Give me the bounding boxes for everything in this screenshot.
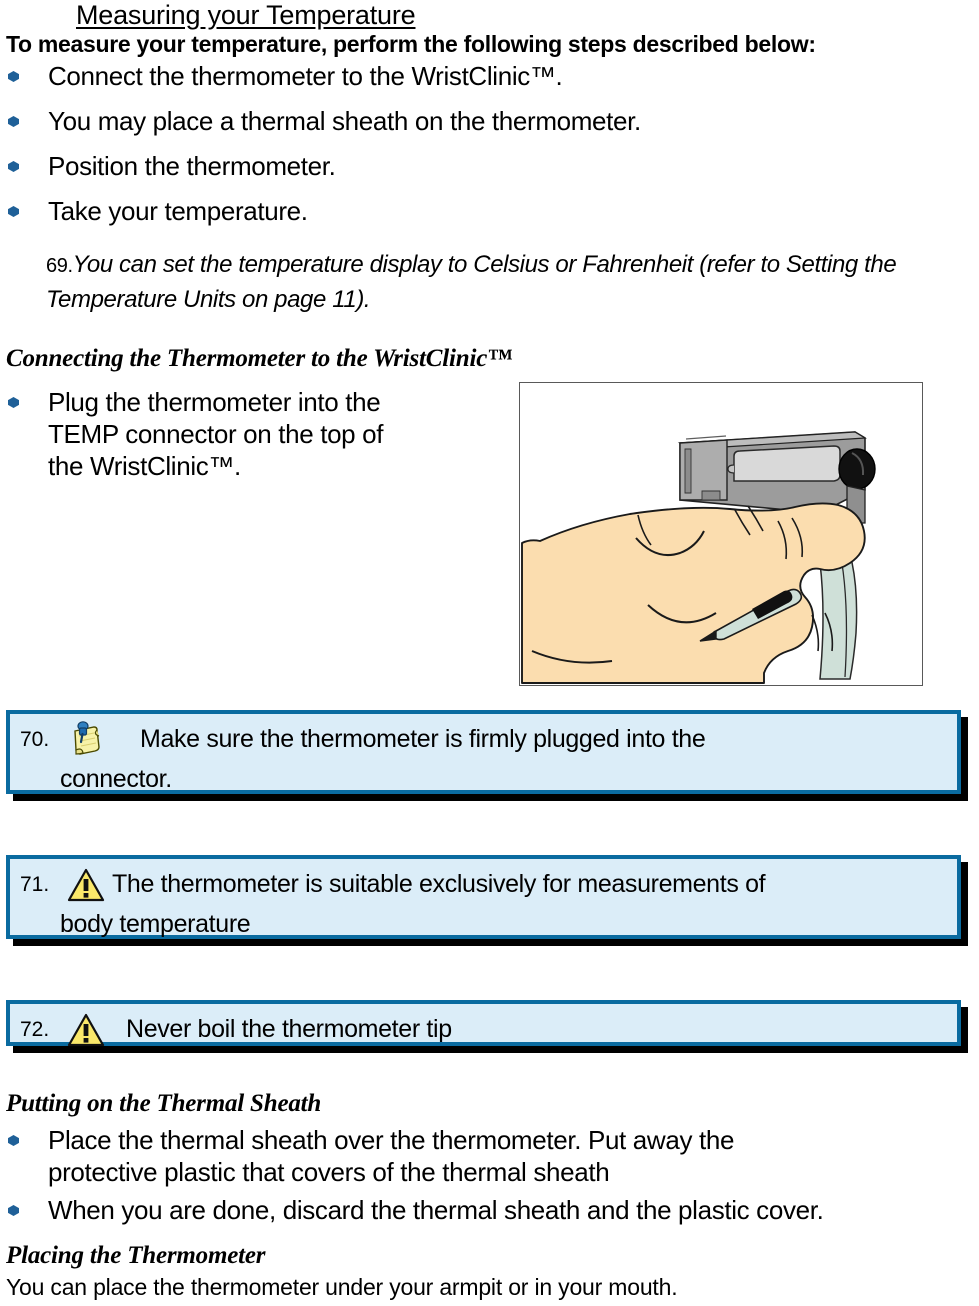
warning-callout-71-first-line: 71. The thermometer is suitable exclusiv… bbox=[20, 865, 947, 905]
bullet-diamond-icon bbox=[8, 1205, 19, 1216]
note-callout-70-text: Make sure the thermometer is firmly plug… bbox=[112, 720, 947, 758]
list-item-label: When you are done, discard the thermal s… bbox=[48, 1194, 823, 1226]
bullet-diamond-icon bbox=[8, 161, 19, 172]
warning-callout-72: 72. Never boil the thermometer tip bbox=[6, 1000, 961, 1046]
section-heading-placing-thermometer: Placing the Thermometer bbox=[6, 1242, 265, 1270]
italic-note-number: 69. bbox=[46, 255, 73, 277]
list-item-label: Plug the thermometer into the TEMP conne… bbox=[48, 386, 383, 482]
note-callout-70-first-line: 70. Make sure the thermometer is firmly … bbox=[20, 720, 947, 760]
list-item: When you are done, discard the thermal s… bbox=[8, 1194, 978, 1226]
italic-note-69: 69.You can set the temperature display t… bbox=[46, 248, 979, 316]
list-item: Place the thermal sheath over the thermo… bbox=[8, 1124, 968, 1188]
warning-callout-71-number: 71. bbox=[20, 865, 60, 905]
warning-callout-72-number: 72. bbox=[20, 1010, 60, 1050]
note-callout-70-number: 70. bbox=[20, 720, 60, 760]
bullet-diamond-icon bbox=[8, 397, 19, 408]
warning-triangle-icon bbox=[60, 865, 112, 905]
page-title: Measuring your Temperature bbox=[76, 0, 415, 31]
warning-callout-71-text: The thermometer is suitable exclusively … bbox=[112, 865, 947, 903]
list-item: Take your temperature. bbox=[8, 195, 968, 227]
list-item: Position the thermometer. bbox=[8, 150, 968, 182]
section-heading-putting-on-thermal-sheath: Putting on the Thermal Sheath bbox=[6, 1090, 321, 1118]
warning-callout-72-first-line: 72. Never boil the thermometer tip bbox=[20, 1010, 947, 1050]
list-item-label: Connect the thermometer to the WristClin… bbox=[48, 60, 562, 92]
placing-thermometer-body: You can place the thermometer under your… bbox=[6, 1274, 677, 1301]
illustration-drawing bbox=[520, 383, 922, 685]
warning-callout-72-text: Never boil the thermometer tip bbox=[112, 1010, 947, 1048]
warning-triangle-icon bbox=[60, 1010, 112, 1050]
list-item-label: Take your temperature. bbox=[48, 195, 308, 227]
list-item: You may place a thermal sheath on the th… bbox=[8, 105, 968, 137]
bullet-diamond-icon bbox=[8, 71, 19, 82]
warning-callout-71: 71. The thermometer is suitable exclusiv… bbox=[6, 855, 961, 939]
list-item-label: Position the thermometer. bbox=[48, 150, 336, 182]
list-item: Connect the thermometer to the WristClin… bbox=[8, 60, 968, 92]
sticky-note-icon bbox=[60, 720, 112, 760]
list-item: Plug the thermometer into the TEMP conne… bbox=[8, 386, 488, 482]
warning-callout-71-second-line: body temperature bbox=[20, 905, 947, 943]
list-item-label: Place the thermal sheath over the thermo… bbox=[48, 1124, 734, 1188]
note-callout-70: 70. Make sure the thermometer is firmly … bbox=[6, 710, 961, 794]
intro-paragraph: To measure your temperature, perform the… bbox=[6, 31, 816, 58]
italic-note-text: You can set the temperature display to C… bbox=[46, 251, 896, 313]
illustration-thermometer-connection bbox=[519, 382, 923, 686]
section-heading-connecting-thermometer: Connecting the Thermometer to the WristC… bbox=[6, 345, 512, 373]
bullet-diamond-icon bbox=[8, 206, 19, 217]
list-item-label: You may place a thermal sheath on the th… bbox=[48, 105, 641, 137]
bullet-diamond-icon bbox=[8, 116, 19, 127]
note-callout-70-second-line: connector. bbox=[20, 760, 947, 798]
bullet-diamond-icon bbox=[8, 1135, 19, 1146]
